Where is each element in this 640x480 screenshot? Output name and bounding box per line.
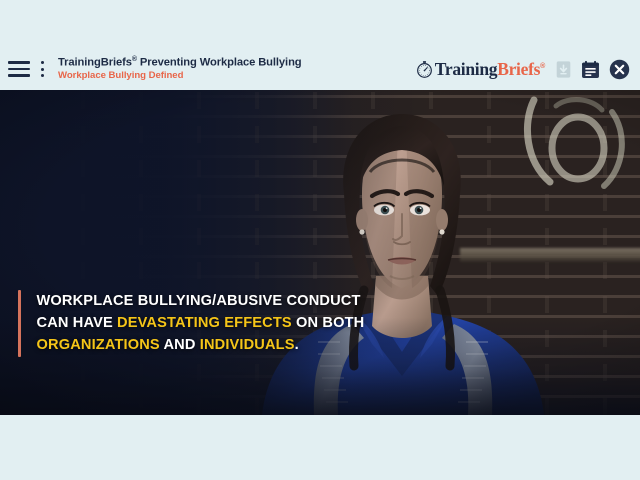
hamburger-line [8,61,30,64]
caption-line3-end: . [295,337,299,353]
caption-line3-mid: AND [160,337,200,353]
stopwatch-icon [415,60,434,79]
download-icon [555,60,572,79]
kebab-dot [41,74,44,77]
brand-word-briefs: Briefs [497,59,540,79]
hamburger-line [8,74,30,77]
edge-vignette-overlay [0,90,640,415]
kebab-dot [41,68,44,71]
caption-line-2: CAN HAVE DEVASTATING EFFECTS ON BOTH [37,312,365,334]
course-title: TrainingBriefs® Preventing Workplace Bul… [58,56,415,69]
video-stage[interactable]: WORKPLACE BULLYING/ABUSIVE CONDUCT CAN H… [0,90,640,415]
caption-text: WORKPLACE BULLYING/ABUSIVE CONDUCT CAN H… [37,290,365,357]
app-header: TrainingBriefs® Preventing Workplace Bul… [0,48,640,90]
caption-line1-text: WORKPLACE BULLYING/ABUSIVE CONDUCT [37,293,361,309]
training-player-app: TrainingBriefs® Preventing Workplace Bul… [0,0,640,480]
caption-line-3: ORGANIZATIONS AND INDIVIDUALS. [37,334,365,356]
caption-accent-bar [18,290,21,357]
brand-wordmark: TrainingBriefs® [435,59,545,80]
close-icon[interactable] [609,59,630,80]
kebab-dot [41,61,44,64]
hamburger-line [8,68,30,71]
course-title-text: TrainingBriefs [58,57,132,69]
caption-line2-prefix: CAN HAVE [37,315,118,331]
lesson-subtitle: Workplace Bullying Defined [58,71,415,82]
video-caption: WORKPLACE BULLYING/ABUSIVE CONDUCT CAN H… [18,290,364,357]
caption-line-1: WORKPLACE BULLYING/ABUSIVE CONDUCT [37,290,365,312]
trainingbriefs-logo[interactable]: TrainingBriefs® [415,59,545,80]
brand-word-training: Training [435,59,497,79]
kebab-menu-icon[interactable] [37,61,47,77]
caption-highlight-organizations: ORGANIZATIONS [37,337,160,353]
course-title-rest: Preventing Workplace Bullying [137,57,302,69]
header-titles: TrainingBriefs® Preventing Workplace Bul… [58,56,415,82]
caption-highlight-individuals: INDIVIDUALS [200,337,295,353]
caption-highlight-devastating-effects: DEVASTATING EFFECTS [117,315,292,331]
notes-icon[interactable] [581,60,600,79]
caption-line2-suffix: ON BOTH [292,315,365,331]
brand-registered-mark: ® [540,63,545,70]
header-actions [555,59,630,80]
hamburger-menu-icon[interactable] [8,61,30,77]
